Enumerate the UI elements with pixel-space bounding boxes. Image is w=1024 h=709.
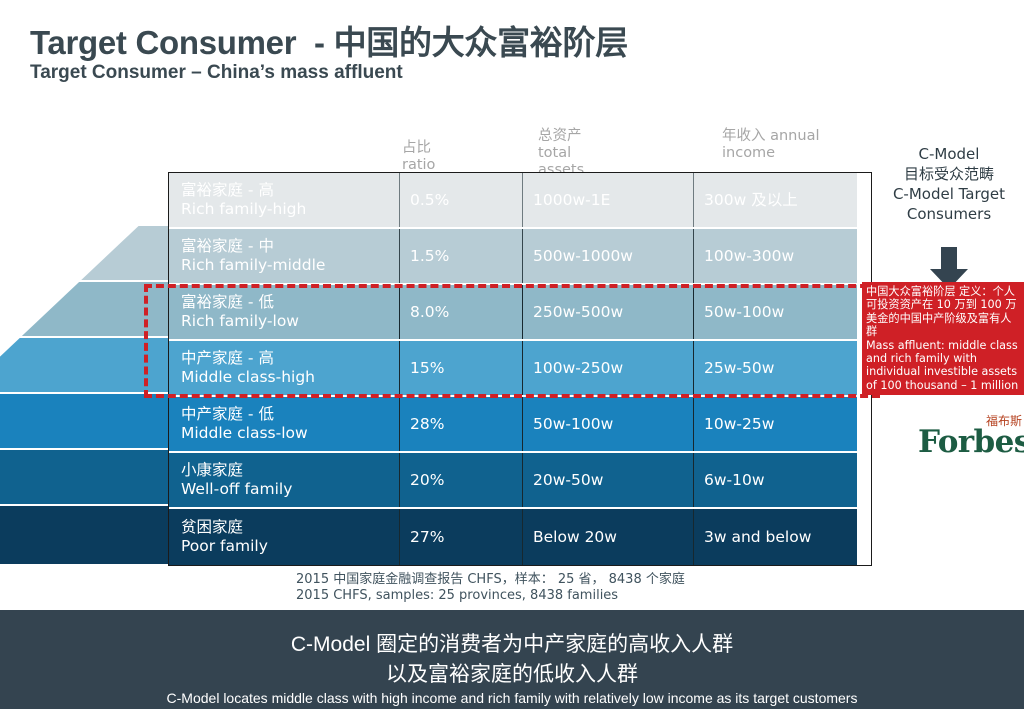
column-header-income: 年收入 annual income (722, 128, 819, 162)
c-model-caption: C-Model 目标受众范畴 C-Model Target Consumers (876, 144, 1022, 224)
c-model-line1: C-Model (876, 144, 1022, 164)
column-header-ratio: 占比 ratio (402, 140, 435, 174)
bottom-banner: C-Model 圈定的消费者为中产家庭的高收入人群 以及富裕家庭的低收入人群 C… (0, 610, 1024, 709)
callout-cn: 中国大众富裕阶层 定义：个人可投资资产在 10 万到 100 万美金的中国中产阶… (866, 285, 1017, 338)
banner-line-2: 以及富裕家庭的低收入人群 (0, 658, 1024, 688)
table-outline (168, 172, 872, 566)
callout-en: Mass affluent: middle class and rich fam… (866, 339, 1022, 393)
slide-root: Target Consumer - 中国的大众富裕阶层 Target Consu… (0, 0, 1024, 709)
page-title: Target Consumer - 中国的大众富裕阶层 (30, 16, 628, 64)
page-title-en: Target Consumer (30, 24, 296, 61)
page-subtitle: Target Consumer – China’s mass affluent (30, 62, 403, 84)
banner-line-1: C-Model 圈定的消费者为中产家庭的高收入人群 (0, 628, 1024, 658)
c-model-line3: C-Model Target (876, 184, 1022, 204)
source-note: 2015 中国家庭金融调查报告 CHFS，样本： 25 省， 8438 个家庭 … (296, 572, 685, 604)
banner-line-3: C-Model locates middle class with high i… (0, 690, 1024, 706)
mass-affluent-callout: 中国大众富裕阶层 定义：个人可投资资产在 10 万到 100 万美金的中国中产阶… (862, 282, 1024, 395)
c-model-line4: Consumers (876, 204, 1022, 224)
forbes-logo-word: Forbes (918, 424, 1024, 460)
page-title-cn: - 中国的大众富裕阶层 (314, 24, 628, 61)
c-model-line2: 目标受众范畴 (876, 164, 1022, 184)
